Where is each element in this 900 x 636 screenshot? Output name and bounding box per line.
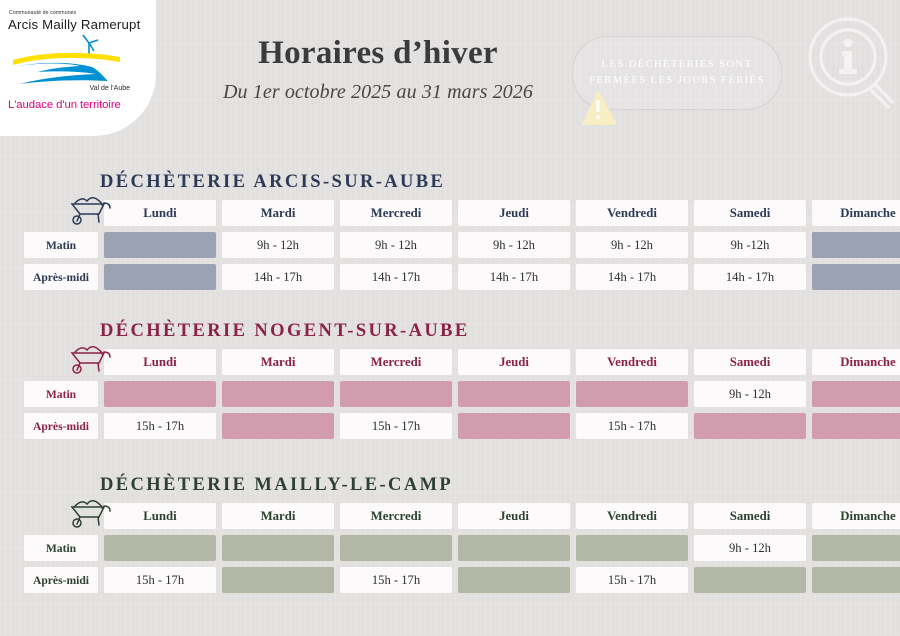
table-row: Matin 9h - 12h [24,381,900,407]
slot-arcis-matin-mardi: 9h - 12h [222,232,334,258]
slot-nogent-pm-mardi [222,413,334,439]
section-title-nogent: DÉCHÈTERIE NOGENT-SUR-AUBE [100,321,880,342]
section-nogent: DÉCHÈTERIE NOGENT-SUR-AUBE Lundi Mardi M… [24,321,880,445]
table-row: Après-midi 15h - 17h 15h - 17h 15h - 17h [24,413,900,439]
day-header-lundi: Lundi [104,503,216,529]
slot-mailly-matin-jeudi [458,535,570,561]
slot-nogent-matin-samedi: 9h - 12h [694,381,806,407]
slot-arcis-pm-dimanche [812,264,900,290]
row-label-matin: Matin [24,381,98,407]
slot-arcis-pm-vendredi: 14h - 17h [576,264,688,290]
page-title: Horaires d’hiver [198,36,558,71]
row-label-apres-midi: Après-midi [24,413,98,439]
warning-triangle-icon [576,86,620,128]
day-header-jeudi: Jeudi [458,503,570,529]
slot-nogent-pm-dimanche [812,413,900,439]
row-label-apres-midi: Après-midi [24,567,98,593]
table-row: Matin 9h - 12h 9h - 12h 9h - 12h 9h - 12… [24,232,900,258]
day-header-vendredi: Vendredi [576,200,688,226]
slot-nogent-matin-jeudi [458,381,570,407]
day-header-samedi: Samedi [694,503,806,529]
section-mailly: DÉCHÈTERIE MAILLY-LE-CAMP Lundi Mardi Me… [24,475,880,599]
slot-arcis-matin-vendredi: 9h - 12h [576,232,688,258]
slot-arcis-matin-samedi: 9h -12h [694,232,806,258]
logo-superline: Communauté de communes [9,10,140,16]
row-label-matin: Matin [24,535,98,561]
section-arcis: DÉCHÈTERIE ARCIS-SUR-AUBE Lundi Mardi Me… [24,172,880,296]
wheelbarrow-icon [68,192,114,228]
info-magnifier-icon [800,14,896,120]
day-header-dimanche: Dimanche [812,503,900,529]
day-header-samedi: Samedi [694,200,806,226]
slot-arcis-pm-jeudi: 14h - 17h [458,264,570,290]
slot-mailly-pm-dimanche [812,567,900,593]
slot-mailly-pm-samedi [694,567,806,593]
slot-nogent-pm-samedi [694,413,806,439]
slot-arcis-pm-mardi: 14h - 17h [222,264,334,290]
table-header-row: Lundi Mardi Mercredi Jeudi Vendredi Same… [24,503,900,529]
day-header-samedi: Samedi [694,349,806,375]
slot-nogent-matin-mercredi [340,381,452,407]
header-title-block: Horaires d’hiver Du 1er octobre 2025 au … [198,36,558,104]
table-row: Matin 9h - 12h [24,535,900,561]
wheelbarrow-icon [68,495,114,531]
day-header-jeudi: Jeudi [458,200,570,226]
slot-mailly-matin-dimanche [812,535,900,561]
day-header-mardi: Mardi [222,503,334,529]
table-header-row: Lundi Mardi Mercredi Jeudi Vendredi Same… [24,200,900,226]
slot-nogent-matin-dimanche [812,381,900,407]
logo-region: Val de l'Aube [89,85,130,92]
slot-arcis-matin-lundi [104,232,216,258]
day-header-mercredi: Mercredi [340,200,452,226]
day-header-mercredi: Mercredi [340,503,452,529]
row-label-apres-midi: Après-midi [24,264,98,290]
slot-mailly-pm-lundi: 15h - 17h [104,567,216,593]
slot-mailly-pm-vendredi: 15h - 17h [576,567,688,593]
logo-slogan: L'audace d'un territoire [8,99,140,111]
slot-mailly-matin-mardi [222,535,334,561]
section-title-arcis: DÉCHÈTERIE ARCIS-SUR-AUBE [100,172,880,193]
day-header-vendredi: Vendredi [576,349,688,375]
slot-arcis-matin-dimanche [812,232,900,258]
slot-mailly-pm-mercredi: 15h - 17h [340,567,452,593]
slot-arcis-pm-mercredi: 14h - 17h [340,264,452,290]
slot-nogent-pm-jeudi [458,413,570,439]
logo-card: Communauté de communes Arcis Mailly Rame… [0,0,156,136]
slot-mailly-matin-lundi [104,535,216,561]
slot-arcis-pm-samedi: 14h - 17h [694,264,806,290]
day-header-jeudi: Jeudi [458,349,570,375]
day-header-mercredi: Mercredi [340,349,452,375]
slot-arcis-matin-jeudi: 9h - 12h [458,232,570,258]
slot-mailly-matin-vendredi [576,535,688,561]
day-header-dimanche: Dimanche [812,349,900,375]
slot-mailly-pm-mardi [222,567,334,593]
page-subtitle: Du 1er octobre 2025 au 31 mars 2026 [198,81,558,104]
slot-mailly-pm-jeudi [458,567,570,593]
table-header-row: Lundi Mardi Mercredi Jeudi Vendredi Same… [24,349,900,375]
logo-name: Arcis Mailly Ramerupt [8,17,140,32]
slot-nogent-matin-lundi [104,381,216,407]
slot-arcis-matin-mercredi: 9h - 12h [340,232,452,258]
slot-nogent-pm-mercredi: 15h - 17h [340,413,452,439]
row-label-matin: Matin [24,232,98,258]
wheelbarrow-icon [68,341,114,377]
logo-artwork: Val de l'Aube [8,34,136,90]
day-header-vendredi: Vendredi [576,503,688,529]
slot-mailly-matin-samedi: 9h - 12h [694,535,806,561]
slot-nogent-matin-mardi [222,381,334,407]
day-header-lundi: Lundi [104,200,216,226]
day-header-mardi: Mardi [222,200,334,226]
table-row: Après-midi 15h - 17h 15h - 17h 15h - 17h [24,567,900,593]
logo: Communauté de communes Arcis Mailly Rame… [8,10,140,122]
slot-nogent-matin-vendredi [576,381,688,407]
slot-nogent-pm-lundi: 15h - 17h [104,413,216,439]
logo-wind-river-icon [8,34,136,90]
schedule-table-arcis: Lundi Mardi Mercredi Jeudi Vendredi Same… [18,194,900,296]
day-header-mardi: Mardi [222,349,334,375]
schedule-table-nogent: Lundi Mardi Mercredi Jeudi Vendredi Same… [18,343,900,445]
day-header-lundi: Lundi [104,349,216,375]
holiday-closure-text: LES DÉCHÈTERIES SONT FERMÉES LES JOURS F… [573,57,781,89]
table-row: Après-midi 14h - 17h 14h - 17h 14h - 17h… [24,264,900,290]
day-header-dimanche: Dimanche [812,200,900,226]
slot-arcis-pm-lundi [104,264,216,290]
schedule-table-mailly: Lundi Mardi Mercredi Jeudi Vendredi Same… [18,497,900,599]
slot-mailly-matin-mercredi [340,535,452,561]
section-title-mailly: DÉCHÈTERIE MAILLY-LE-CAMP [100,475,880,496]
slot-nogent-pm-vendredi: 15h - 17h [576,413,688,439]
